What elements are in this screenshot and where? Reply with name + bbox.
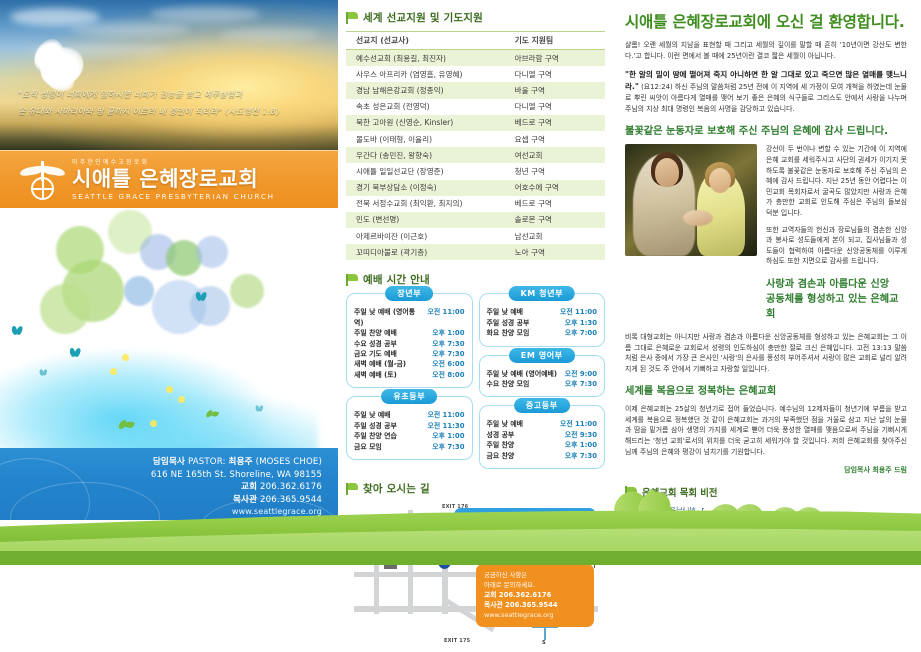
petal-shape <box>122 354 129 361</box>
church-name-ko: 시애틀 은혜장로교회 <box>72 167 322 191</box>
photo-side-text: 강산이 두 번이나 변할 수 있는 기간에 이 지역에 은혜 교회를 세워주시고… <box>766 144 907 326</box>
cell-team: 다니엘 구역 <box>507 99 605 115</box>
mission-table-wrap: 선교지 (선교사) 기도 지원팀 예수선교회 (최용길, 최진자)아브라함 구역… <box>346 31 605 260</box>
cell-team: 바울 구역 <box>507 82 605 98</box>
table-row: 경기 북부상담소 (이정숙)어호수에 구역 <box>346 180 605 196</box>
service-badge: KM 청년부 <box>508 286 575 301</box>
service-badge: 중고등부 <box>514 398 570 413</box>
table-row: 시애틀 일일선교단 (장영준)청년 구역 <box>346 163 605 179</box>
map-section-header: 찾아 오시는 길 <box>346 481 605 496</box>
service-row: 성경 공부오전 9:30 <box>487 430 598 440</box>
service-row: 주일 낮 예배오전 11:00 <box>487 307 598 317</box>
denomination-label: 미주한인예수교장로회 <box>72 157 322 166</box>
service-row: 금요 찬양오후 7:30 <box>487 451 598 461</box>
service-time: 오후 7:30 <box>560 451 597 461</box>
flag-icon <box>346 12 358 24</box>
mission-support-table: 선교지 (선교사) 기도 지원팀 예수선교회 (최용길, 최진자)아브라함 구역… <box>346 32 605 260</box>
service-label: 화요 찬양 모임 <box>487 328 530 338</box>
cover-panel: "오직 성령이 너희에게 임하시면 너희가 권능을 받고 예루살렘과 온 유대와… <box>0 0 338 565</box>
cell-field: 경남 남해은강교회 (정종익) <box>346 82 507 98</box>
bible-verse-block: "오직 성령이 너희에게 임하시면 너희가 권능을 받고 예루살렘과 온 유대와… <box>0 82 338 130</box>
globe-icon <box>31 177 54 200</box>
table-row: 우간다 (송민진, 왕향숙)여선교회 <box>346 147 605 163</box>
table-row: 북한 고아원 (신영순, Kinsler)베드로 구역 <box>346 115 605 131</box>
inquiry-website[interactable]: www.seattlegrace.org <box>484 610 586 620</box>
sprout-icon <box>206 405 219 416</box>
butterfly-icon <box>40 369 48 375</box>
service-card-children: 유초등부 주일 낮 예배오전 11:00 주일 성경 공부오전 11:30 주일… <box>346 396 473 460</box>
cell-team: 아브라함 구역 <box>507 50 605 67</box>
inquiry-manse-label: 목사관 <box>484 601 503 609</box>
service-time: 오전 9:30 <box>560 430 597 440</box>
cell-team: 솔로몬 구역 <box>507 212 605 228</box>
service-time: 오전 11:30 <box>422 421 464 431</box>
cell-field: 시애틀 일일선교단 (장영준) <box>346 163 507 179</box>
service-row: 주일 성경 공부오전 11:30 <box>354 421 465 431</box>
service-time: 오후 1:30 <box>560 318 597 328</box>
mission-section-header: 세계 선교지원 및 기도지원 <box>346 10 605 25</box>
service-column-left: 장년부 주일 낮 예배 (영어통역)오전 11:00 주일 찬양 예배오후 1:… <box>346 293 473 469</box>
brochure-page: "오직 성령이 너희에게 임하시면 너희가 권능을 받고 예루살렘과 온 유대와… <box>0 0 921 565</box>
table-header-row: 선교지 (선교사) 기도 지원팀 <box>346 32 605 50</box>
inquiry-manse-value: 206.365.9544 <box>505 601 557 609</box>
service-schedule-grid: 장년부 주일 낮 예배 (영어통역)오전 11:00 주일 찬양 예배오후 1:… <box>346 293 605 469</box>
pastor-label-en: PASTOR: <box>188 457 226 467</box>
services-section-title: 예배 시간 안내 <box>363 272 430 287</box>
service-time: 오전 11:00 <box>422 410 464 420</box>
service-label: 새벽 예배 (월-금) <box>354 359 406 369</box>
service-label: 주일 찬양 <box>487 440 515 450</box>
service-card-adult: 장년부 주일 낮 예배 (영어통역)오전 11:00 주일 찬양 예배오후 1:… <box>346 293 473 388</box>
service-label: 주일 낮 예배 <box>487 307 524 317</box>
mission-section-title: 세계 선교지원 및 기도지원 <box>363 10 483 25</box>
table-row: 전북 서정수교회 (최익환, 최지의)베드로 구역 <box>346 196 605 212</box>
petal-shape <box>166 386 173 393</box>
service-label: 금요 기도 예배 <box>354 349 397 359</box>
welcome-paragraph-4: 비록 대형교회는 아니지만 사랑과 겸손과 아름다운 신앙공동체를 형성하고 있… <box>625 332 907 374</box>
service-row: 수요 성경 공부오후 7:30 <box>354 339 465 349</box>
manse-phone-label: 목사관 <box>233 495 257 505</box>
table-row: 사우스 아프리카 (염영흠, 유영혜)다니엘 구역 <box>346 66 605 82</box>
cell-team: 남선교회 <box>507 228 605 244</box>
service-card-km-youth: KM 청년부 주일 낮 예배오전 11:00 주일 성경 공부오후 1:30 화… <box>479 293 606 346</box>
church-emblem-icon <box>22 159 64 201</box>
service-card-em-english: EM 영어부 주일 낮 예배 (영어예배)오전 9:00 수요 찬양 모임오후 … <box>479 355 606 398</box>
service-time: 오후 1:00 <box>427 431 464 441</box>
service-label: 주일 성경 공부 <box>354 421 397 431</box>
church-phone-line: 교회 206.362.6176 <box>151 481 322 494</box>
service-time: 오전 8:00 <box>427 370 464 380</box>
inquiry-church-value: 206.362.6176 <box>499 591 551 599</box>
verse-line-2: 온 유대와 사마리아와 땅 끝까지 이르러 내 증인이 되리라" (사도행전 1… <box>18 103 324 120</box>
petal-shape <box>110 368 117 375</box>
service-time: 오후 7:30 <box>427 339 464 349</box>
service-label: 새벽 예배 (토) <box>354 370 397 380</box>
contact-text-group: 담임목사 PASTOR: 최용주 (MOSES CHOE) 616 NE 165… <box>151 456 322 519</box>
inquiry-line2: 아래로 문의하세요. <box>484 581 586 590</box>
welcome-title: 시애틀 은혜장로교회에 오신 걸 환영합니다. <box>625 12 907 32</box>
cell-team: 청년 구역 <box>507 163 605 179</box>
pastor-name-ko: 최용주 <box>229 457 253 467</box>
service-badge: 유초등부 <box>381 389 437 404</box>
jesus-head-shape <box>655 158 679 187</box>
service-time: 오전 9:00 <box>560 369 597 379</box>
service-row: 주일 낮 예배 (영어통역)오전 11:00 <box>354 307 465 328</box>
cloud-shape <box>70 22 190 36</box>
welcome-subheading-1: 불꽃같은 눈동자로 보호해 주신 주님의 은혜에 감사 드립니다. <box>625 122 907 137</box>
pastor-label-ko: 담임목사 <box>153 457 185 467</box>
photo-and-text-row: 강산이 두 번이나 변할 수 있는 기간에 이 지역에 은혜 교회를 세워주시고… <box>625 144 907 326</box>
footer-base-strip <box>0 551 921 565</box>
service-time: 오전 11:00 <box>422 307 464 328</box>
pastor-line: 담임목사 PASTOR: 최용주 (MOSES CHOE) <box>151 456 322 469</box>
manse-phone-value: 206.365.9544 <box>260 495 322 505</box>
service-column-right: KM 청년부 주일 낮 예배오전 11:00 주일 성경 공부오후 1:30 화… <box>479 293 606 469</box>
service-label: 주일 성경 공부 <box>487 318 530 328</box>
butterfly-icon <box>256 405 264 411</box>
cell-field: 몰도바 (이태형, 이율리) <box>346 131 507 147</box>
service-time: 오후 7:30 <box>427 442 464 452</box>
bubble-shape <box>124 276 154 306</box>
cell-team: 어호수에 구역 <box>507 180 605 196</box>
inquiry-manse-phone: 목사관 206.365.9544 <box>484 600 586 610</box>
col-header-field: 선교지 (선교사) <box>346 32 507 50</box>
church-phone-label: 교회 <box>241 482 257 492</box>
inquiry-line1: 궁금하신 사항은 <box>484 571 586 580</box>
welcome-intro-paragraph: 샬롬! 오랜 세월의 지남을 표현할 때 그리고 세월의 깊이를 말할 때 흔히… <box>625 40 907 61</box>
cell-field: 속초 성은교회 (전영덕) <box>346 99 507 115</box>
service-label: 금요 찬양 <box>487 451 515 461</box>
cell-field: 경기 북부상담소 (이정숙) <box>346 180 507 196</box>
pastor-name-en: (MOSES CHOE) <box>256 457 322 467</box>
cell-team: 여선교회 <box>507 147 605 163</box>
church-name-en: SEATTLE GRACE PRESBYTERIAN CHURCH <box>72 192 322 201</box>
welcome-paragraph-2: 강산이 두 번이나 변할 수 있는 기간에 이 지역에 은혜 교회를 세워주시고… <box>766 144 907 218</box>
middle-panel: 세계 선교지원 및 기도지원 선교지 (선교사) 기도 지원팀 예수선교회 (최… <box>338 0 613 565</box>
verse-line-1: "오직 성령이 너희에게 임하시면 너희가 권능을 받고 예루살렘과 <box>18 86 324 103</box>
butterfly-icon <box>12 326 23 335</box>
sprout-icon <box>118 414 134 428</box>
cell-team: 베드로 구역 <box>507 196 605 212</box>
table-row: 몰도바 (이태형, 이율리)요셉 구역 <box>346 131 605 147</box>
inquiry-church-label: 교회 <box>484 591 497 599</box>
welcome-paragraph-3: 또한 교역자들의 헌신과 장로님들의 겸손한 신앙과 봉사로 성도들에게 본이 … <box>766 225 907 267</box>
map-section-title: 찾아 오시는 길 <box>363 481 430 496</box>
logo-text-group: 미주한인예수교장로회 시애틀 은혜장로교회 SEATTLE GRACE PRES… <box>72 157 322 201</box>
flag-icon <box>346 274 358 286</box>
mission-table-body: 예수선교회 (최용길, 최진자)아브라함 구역 사우스 아프리카 (염영흠, 유… <box>346 50 605 261</box>
map-label-exit175: EXIT 175 <box>444 638 470 644</box>
welcome-panel: 시애틀 은혜장로교회에 오신 걸 환영합니다. 샬롬! 오랜 세월의 지남을 표… <box>613 0 921 565</box>
cell-team: 다니엘 구역 <box>507 66 605 82</box>
service-label: 주일 찬양 연습 <box>354 431 397 441</box>
service-time: 오전 6:00 <box>427 359 464 369</box>
cell-field: 사우스 아프리카 (염영흠, 유영혜) <box>346 66 507 82</box>
service-row: 주일 찬양 연습오후 1:00 <box>354 431 465 441</box>
service-time: 오후 7:00 <box>560 328 597 338</box>
cell-team: 노아 구역 <box>507 244 605 260</box>
table-row: 꼬띠디아불로 (곽기층)노아 구역 <box>346 244 605 260</box>
butterfly-icon <box>70 348 81 357</box>
service-row: 금요 모임오후 7:30 <box>354 442 465 452</box>
bubble-shape <box>196 236 228 268</box>
service-row: 주일 성경 공부오후 1:30 <box>487 318 598 328</box>
flag-icon <box>346 483 358 495</box>
service-label: 주일 낮 예배 (영어통역) <box>354 307 422 328</box>
service-row: 주일 찬양 예배오후 1:00 <box>354 328 465 338</box>
table-row: 민도 (변선명)솔로몬 구역 <box>346 212 605 228</box>
table-row: 예수선교회 (최용길, 최진자)아브라함 구역 <box>346 50 605 67</box>
bubble-shape <box>40 284 90 334</box>
jesus-with-child-photo <box>625 144 757 256</box>
service-time: 오전 11:00 <box>555 307 597 317</box>
col-header-prayer-team: 기도 지원팀 <box>507 32 605 50</box>
service-time: 오후 7:30 <box>560 379 597 389</box>
service-row: 새벽 예배 (월-금)오전 6:00 <box>354 359 465 369</box>
service-label: 주일 낮 예배 <box>354 410 391 420</box>
cell-field: 북한 고아원 (신영순, Kinsler) <box>346 115 507 131</box>
service-row: 주일 낮 예배 (영어예배)오전 9:00 <box>487 369 598 379</box>
service-row: 화요 찬양 모임오후 7:00 <box>487 328 598 338</box>
service-badge: EM 영어부 <box>509 348 575 363</box>
butterfly-icon <box>196 292 207 301</box>
service-row: 주일 찬양오후 1:00 <box>487 440 598 450</box>
service-row: 수요 찬양 모임오후 7:30 <box>487 379 598 389</box>
service-time: 오후 1:00 <box>560 440 597 450</box>
cloud-shape <box>220 28 320 41</box>
welcome-subheading-2: 사랑과 겸손과 아름다운 신앙 공동체를 형성하고 있는 은혜교회 <box>766 275 907 320</box>
welcome-paragraph-5: 이제 은혜교회는 25살의 청년기로 접어 들었습니다. 예수님의 12제자들이… <box>625 404 907 457</box>
table-row: 속초 성은교회 (전영덕)다니엘 구역 <box>346 99 605 115</box>
cell-team: 베드로 구역 <box>507 115 605 131</box>
service-time: 오전 11:00 <box>555 419 597 429</box>
service-card-youth: 중고등부 주일 낮 예배오전 11:00 성경 공부오전 9:30 주일 찬양오… <box>479 405 606 469</box>
church-phone-value: 206.362.6176 <box>260 482 322 492</box>
church-logo-band: 미주한인예수교장로회 시애틀 은혜장로교회 SEATTLE GRACE PRES… <box>0 150 338 208</box>
service-time: 오후 1:00 <box>427 328 464 338</box>
service-label: 주일 찬양 예배 <box>354 328 397 338</box>
cloud-shape <box>150 6 260 22</box>
subheading-2-line1: 사랑과 겸손과 아름다운 신앙 <box>766 275 907 290</box>
cell-field: 예수선교회 (최용길, 최진자) <box>346 50 507 67</box>
petal-shape <box>150 420 157 427</box>
map-callout-inquiry: 궁금하신 사항은 아래로 문의하세요. 교회 206.362.6176 목사관 … <box>476 564 594 627</box>
table-row: 경남 남해은강교회 (정종익)바울 구역 <box>346 82 605 98</box>
welcome-quote-block: "한 알의 밀이 땅에 떨어져 죽지 아니하면 한 알 그대로 있고 죽으면 많… <box>625 69 907 114</box>
manse-phone-line: 목사관 206.365.9544 <box>151 494 322 507</box>
service-badge: 장년부 <box>385 286 433 301</box>
petal-shape <box>178 396 185 403</box>
inquiry-church-phone: 교회 206.362.6176 <box>484 590 586 600</box>
service-row: 주일 낮 예배오전 11:00 <box>487 419 598 429</box>
service-label: 주일 낮 예배 <box>487 419 524 429</box>
service-time: 오후 7:30 <box>427 349 464 359</box>
service-label: 성경 공부 <box>487 430 515 440</box>
cell-field: 우간다 (송민진, 왕향숙) <box>346 147 507 163</box>
compass-south: S <box>542 640 546 646</box>
cell-team: 요셉 구역 <box>507 131 605 147</box>
welcome-subheading-3: 세계를 복음으로 정복하는 은혜교회 <box>625 382 907 397</box>
service-row: 주일 낮 예배오전 11:00 <box>354 410 465 420</box>
service-label: 수요 성경 공부 <box>354 339 397 349</box>
cell-field: 민도 (변선명) <box>346 212 507 228</box>
service-label: 금요 모임 <box>354 442 382 452</box>
table-row: 아제르바이잔 (이근호)남선교회 <box>346 228 605 244</box>
scripture-quote-body: (요12:24) 하신 주님의 말씀처럼 25년 전에 이 지역에 세 가정이 … <box>625 83 907 113</box>
church-address: 616 NE 165th St. Shoreline, WA 98155 <box>151 469 322 482</box>
service-label: 수요 찬양 모임 <box>487 379 530 389</box>
subheading-2-line2: 공동체를 형성하고 있는 은혜교회 <box>766 290 907 320</box>
services-section-header: 예배 시간 안내 <box>346 272 605 287</box>
service-row: 새벽 예배 (토)오전 8:00 <box>354 370 465 380</box>
service-label: 주일 낮 예배 (영어예배) <box>487 369 558 379</box>
service-row: 금요 기도 예배오후 7:30 <box>354 349 465 359</box>
cell-field: 아제르바이잔 (이근호) <box>346 228 507 244</box>
cell-field: 꼬띠디아불로 (곽기층) <box>346 244 507 260</box>
cell-field: 전북 서정수교회 (최익환, 최지의) <box>346 196 507 212</box>
bubble-shape <box>230 274 264 308</box>
